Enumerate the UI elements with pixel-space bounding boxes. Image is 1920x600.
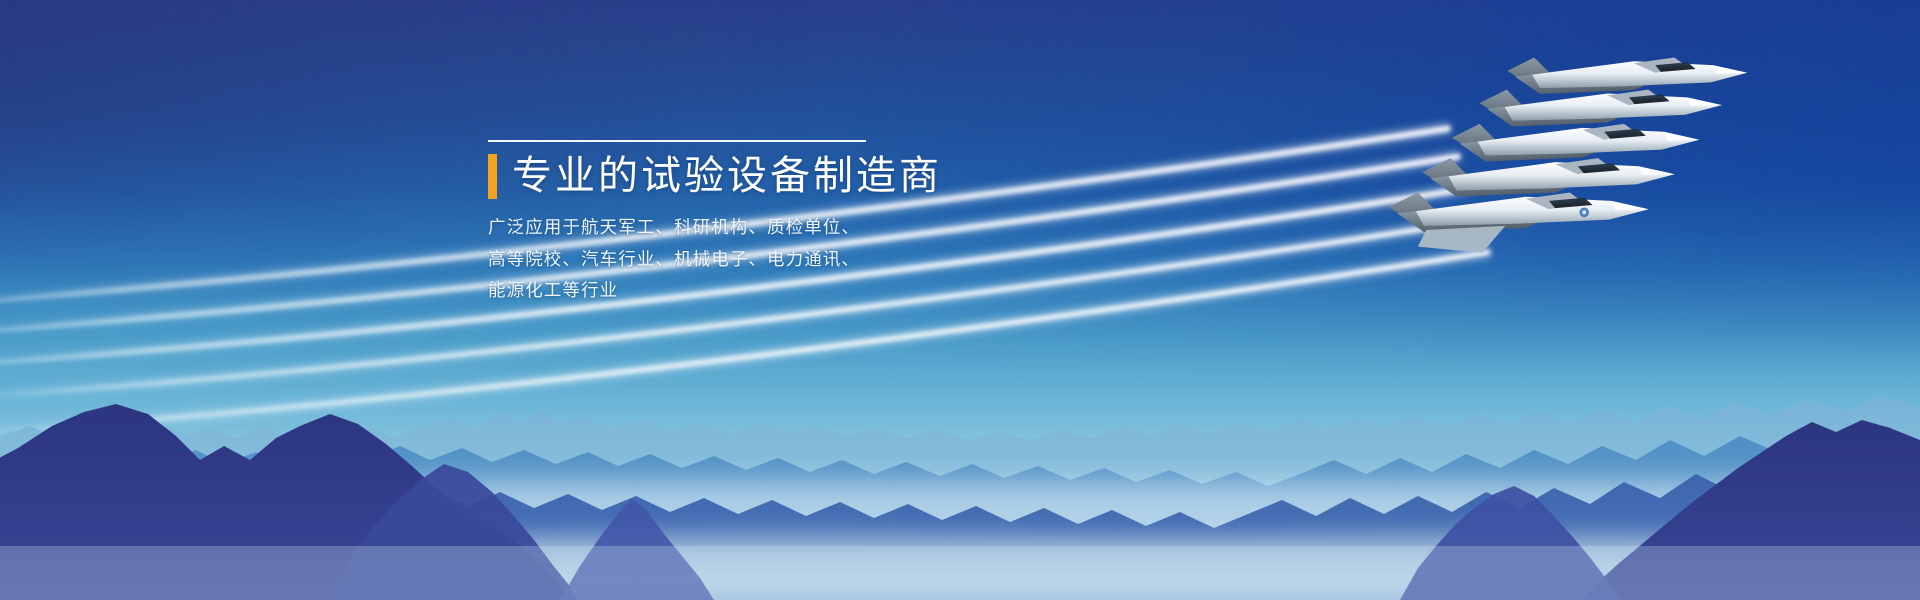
mountain-range — [0, 340, 1920, 600]
title-rule — [488, 140, 866, 142]
headline-row: 专业的试验设备制造商 — [488, 154, 1008, 199]
hero-banner: 专业的试验设备制造商 广泛应用于航天军工、科研机构、质检单位、 高等院校、汽车行… — [0, 0, 1920, 600]
subtitle-line-3: 能源化工等行业 — [488, 276, 1008, 308]
banner-subtitle: 广泛应用于航天军工、科研机构、质检单位、 高等院校、汽车行业、机械电子、电力通讯… — [488, 213, 1008, 309]
banner-copy: 专业的试验设备制造商 广泛应用于航天军工、科研机构、质检单位、 高等院校、汽车行… — [488, 140, 1008, 308]
subtitle-line-1: 广泛应用于航天军工、科研机构、质检单位、 — [488, 213, 1008, 245]
page-title: 专业的试验设备制造商 — [512, 154, 942, 199]
accent-bar — [488, 154, 497, 199]
mist-foreground — [0, 546, 1920, 600]
fighter-jet-formation — [1370, 40, 1840, 320]
subtitle-line-2: 高等院校、汽车行业、机械电子、电力通讯、 — [488, 245, 1008, 277]
